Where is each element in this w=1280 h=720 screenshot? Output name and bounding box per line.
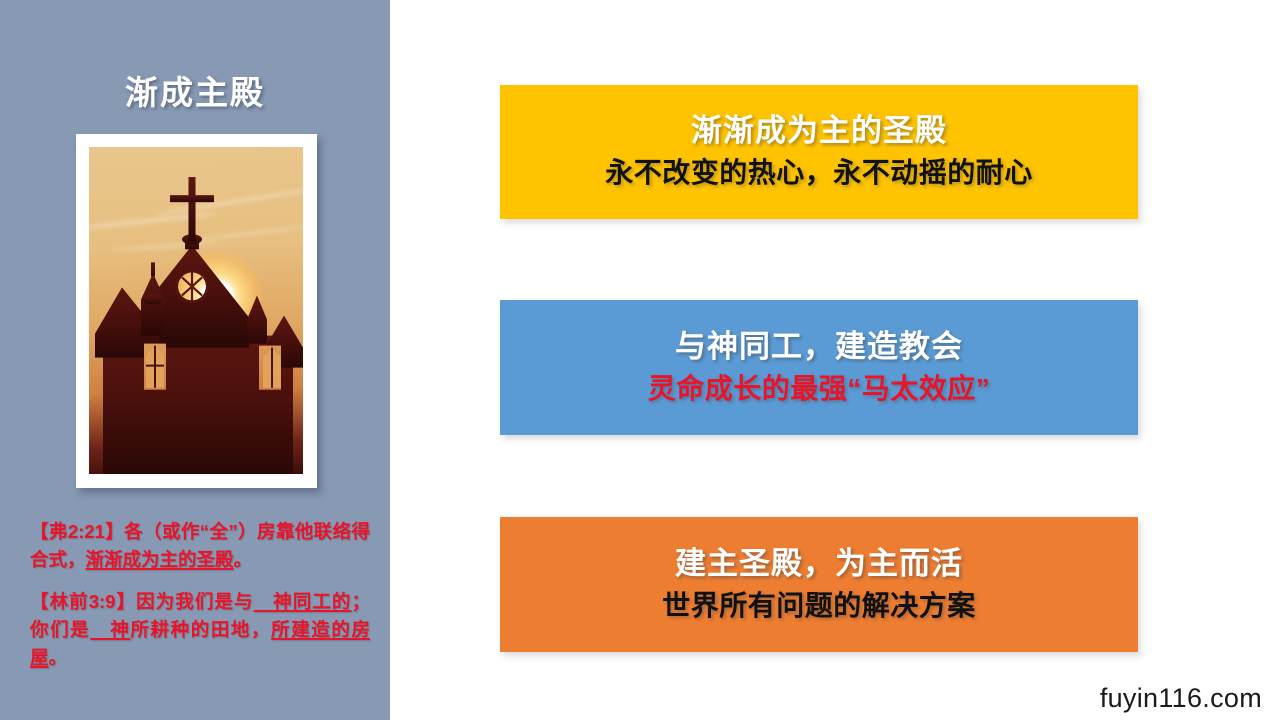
presentation-slide: 渐成主殿 [0, 0, 1280, 720]
banner-blue: 与神同工，建造教会 灵命成长的最强“马太效应” [500, 300, 1138, 435]
banner-yellow-heading: 渐渐成为主的圣殿 [691, 112, 947, 151]
verse-reference: 【林前3:9】 [30, 591, 136, 612]
banner-orange: 建主圣殿，为主而活 世界所有问题的解决方案 [500, 517, 1138, 652]
page-title: 渐成主殿 [0, 66, 390, 114]
verse-segment: 所耕种的田地， [130, 619, 271, 640]
verse-text-underlined: 渐渐成为主的圣殿 [86, 549, 234, 570]
verse-segment: 因为我们是与 [136, 591, 253, 612]
banner-blue-heading: 与神同工，建造教会 [675, 328, 963, 367]
scripture-block: 【弗2:21】各（或作“全”）房靠他联络得合式，渐渐成为主的圣殿。 【林前3:9… [14, 518, 370, 673]
verse-1cor-3-9: 【林前3:9】因为我们是与 神同工的；你们是 神所耕种的田地，所建造的房屋。 [14, 588, 370, 672]
banner-yellow-subheading: 永不改变的热心，永不动摇的耐心 [605, 155, 1033, 191]
banner-yellow: 渐渐成为主的圣殿 永不改变的热心，永不动摇的耐心 [500, 85, 1138, 219]
verse-segment-underlined: 神同工的 [254, 591, 352, 612]
photo-frame [76, 134, 317, 488]
verse-segment-underlined: 神 [90, 619, 130, 640]
sidebar-panel: 渐成主殿 [0, 0, 390, 720]
church-silhouette-icon [89, 147, 303, 474]
banner-orange-subheading: 世界所有问题的解决方案 [662, 588, 976, 624]
verse-segment: 。 [49, 647, 68, 668]
verse-reference: 【弗2:21】 [30, 521, 124, 542]
church-sunset-image [89, 147, 303, 474]
banner-blue-subheading: 灵命成长的最强“马太效应” [648, 371, 991, 407]
verse-eph-2-21: 【弗2:21】各（或作“全”）房靠他联络得合式，渐渐成为主的圣殿。 [14, 518, 370, 574]
banner-orange-heading: 建主圣殿，为主而活 [675, 545, 963, 584]
verse-text-end: 。 [234, 549, 253, 570]
site-watermark: fuyin116.com [1100, 683, 1262, 714]
